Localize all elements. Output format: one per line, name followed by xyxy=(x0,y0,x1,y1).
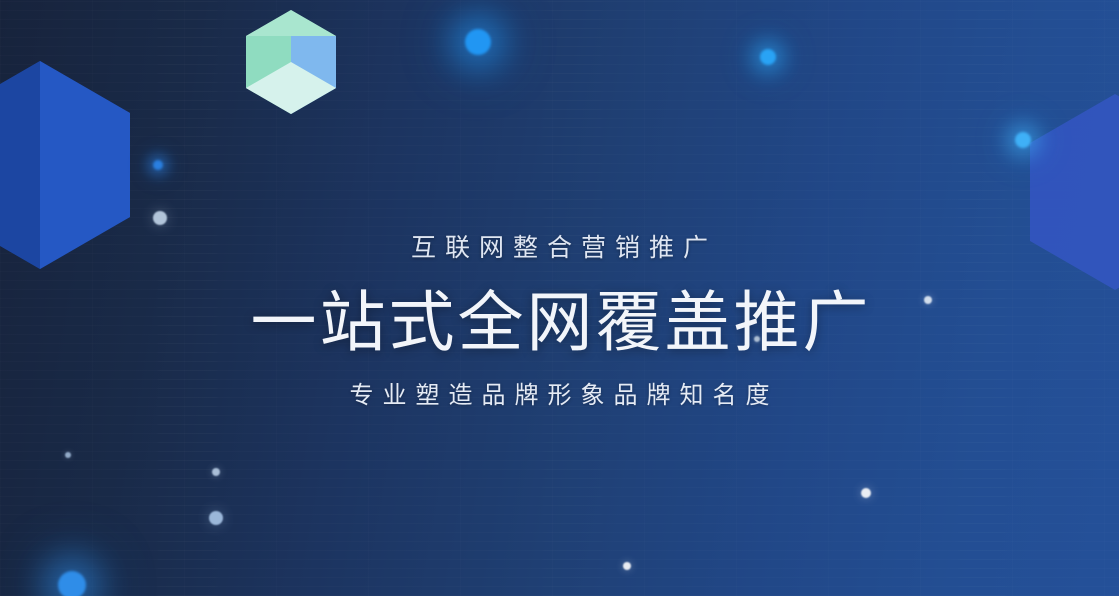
glow-dot-cyan-3 xyxy=(1015,132,1031,148)
glow-dot-cyan-2 xyxy=(760,49,776,65)
soft-dot-pale-2 xyxy=(212,468,220,476)
banner-main-title: 一站式全网覆盖推广 xyxy=(0,283,1119,361)
glow-dot-cyan-5 xyxy=(153,160,163,170)
promo-banner: 互联网整合营销推广 一站式全网覆盖推广 专业塑造品牌形象品牌知名度 xyxy=(0,0,1119,596)
hexagon-cube-logo xyxy=(246,10,336,114)
soft-dot-pale-5 xyxy=(65,452,71,458)
soft-dot-pale-3 xyxy=(209,511,223,525)
glow-dot-cyan-4 xyxy=(58,571,86,596)
glow-dot-cyan-1 xyxy=(465,29,491,55)
soft-dot-white-1 xyxy=(623,562,631,570)
banner-eyebrow: 互联网整合营销推广 xyxy=(0,231,1119,265)
soft-dot-pale-1 xyxy=(153,211,167,225)
banner-sub-title: 专业塑造品牌形象品牌知名度 xyxy=(0,379,1119,413)
soft-dot-white-2 xyxy=(861,488,871,498)
